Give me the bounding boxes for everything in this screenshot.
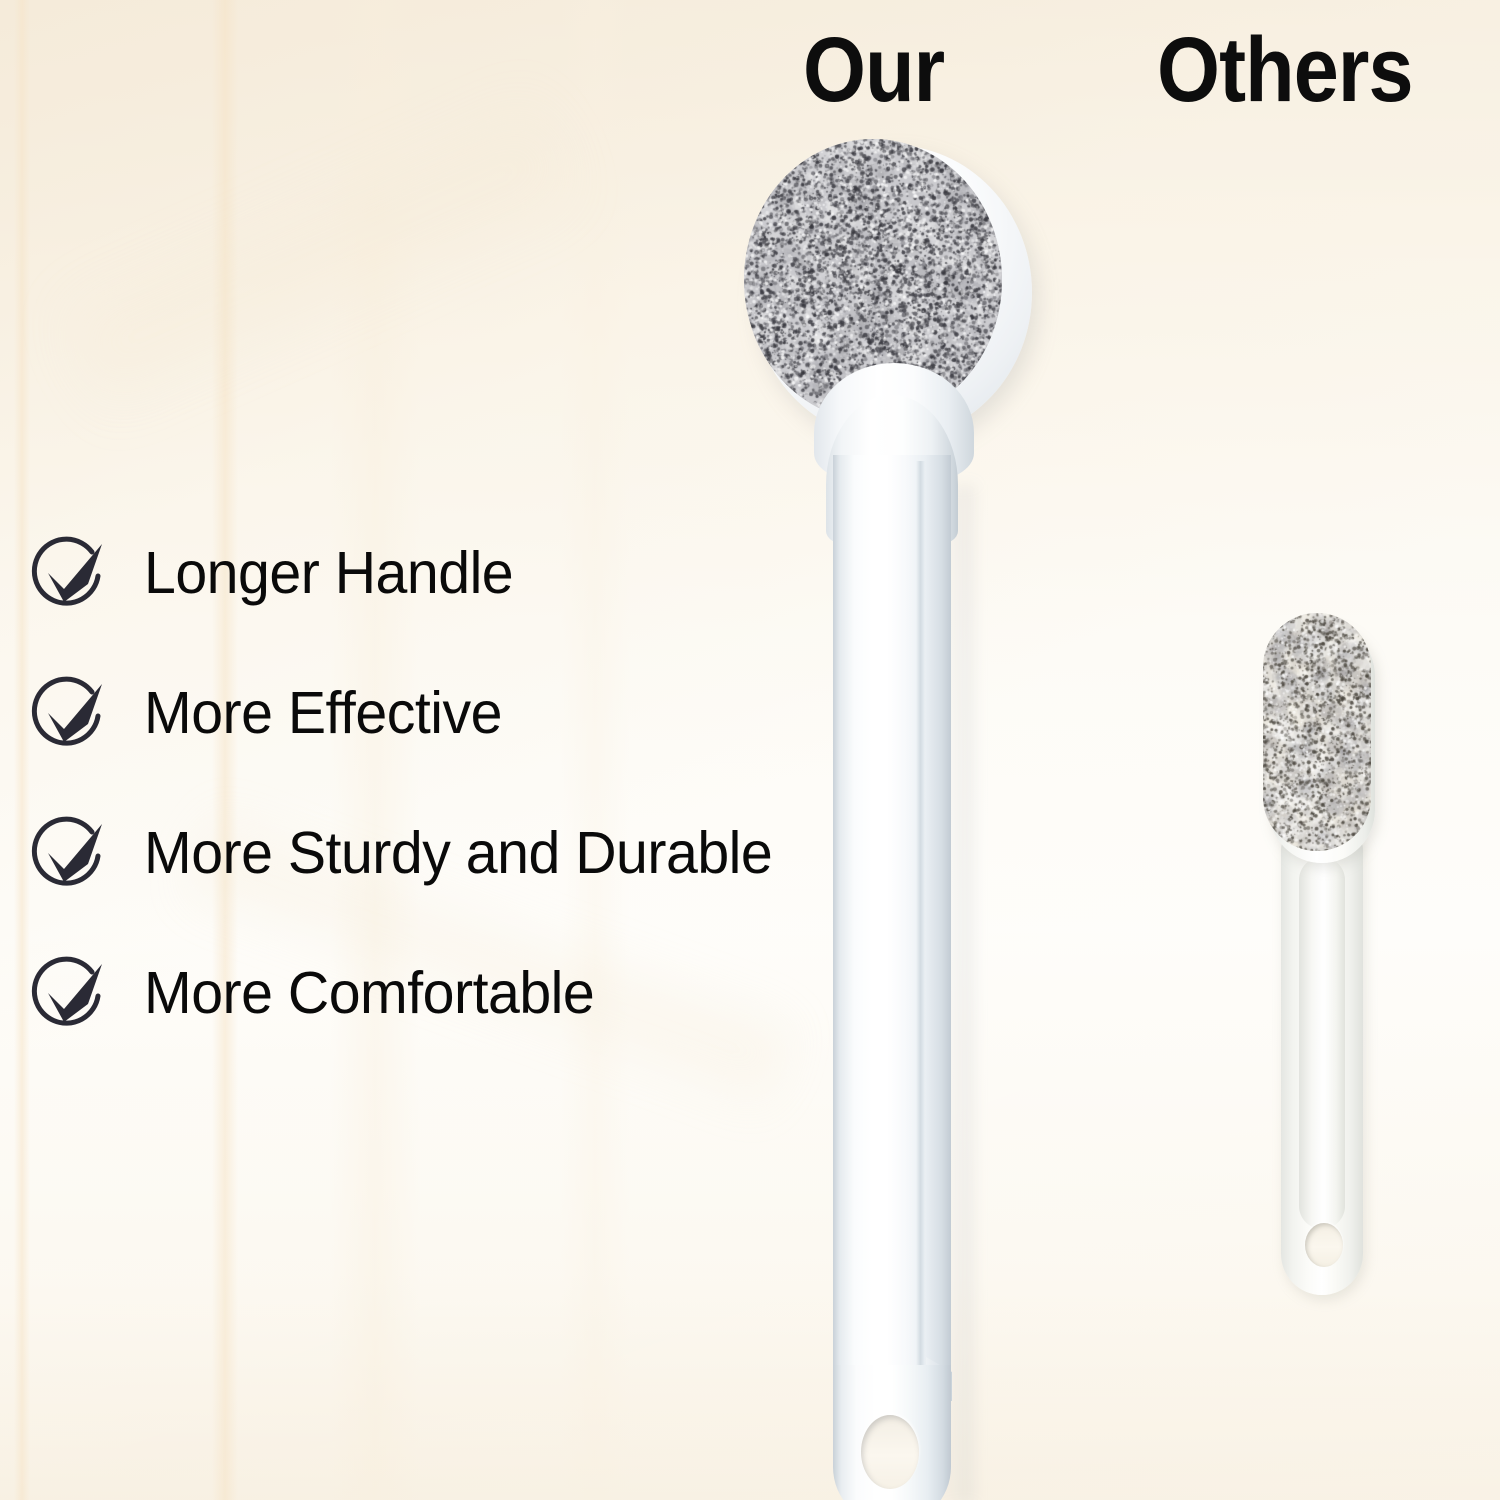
others-hang-hole [1305,1223,1343,1267]
check-circle-icon [28,812,110,894]
feature-item: More Sturdy and Durable [28,783,788,923]
background-diagonal-streak [52,81,588,430]
ours-column-header: Our [803,24,944,116]
check-circle-icon [28,672,110,754]
our-hang-hole [861,1415,919,1489]
feature-list: Longer Handle More Effective More Sturdy… [28,503,788,1063]
feature-item: More Comfortable [28,923,788,1063]
check-circle-icon [28,532,110,614]
feature-label: More Sturdy and Durable [144,824,772,883]
others-pumice-stone-pad [1263,613,1371,851]
others-column-header: Others [1157,24,1413,116]
check-circle-icon [28,952,110,1034]
others-handle-groove [1299,857,1345,1229]
product-comparison-image: Our Others Longer Handle More Effective [0,0,1500,1500]
feature-item: Longer Handle [28,503,788,643]
feature-label: More Comfortable [144,964,594,1023]
feature-label: Longer Handle [144,544,513,603]
our-handle-highlight [878,459,894,1459]
others-product-image [1255,605,1405,1315]
our-handle-seam [916,461,925,1457]
feature-label: More Effective [144,684,502,743]
our-product-image [730,125,1040,1500]
feature-item: More Effective [28,643,788,783]
